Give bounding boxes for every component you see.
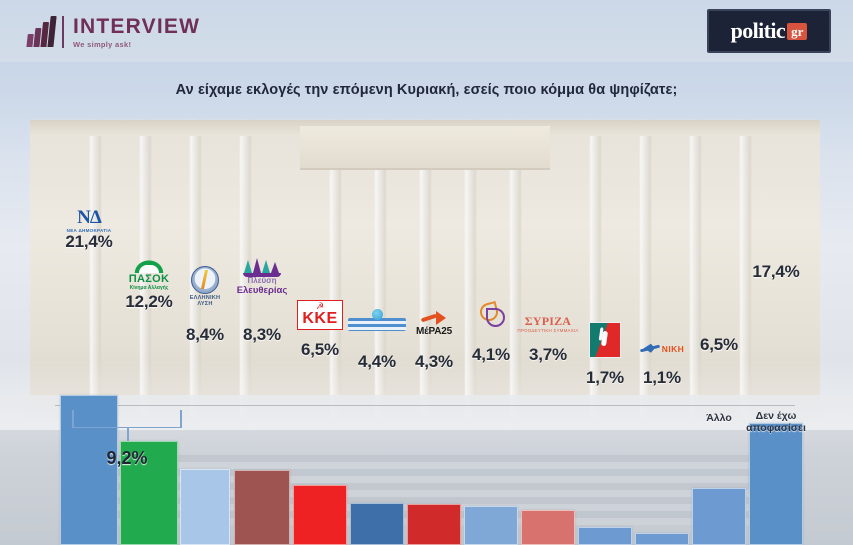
bar-kokkino bbox=[578, 527, 632, 545]
plefsi-logo-line2: Ελευθερίας bbox=[237, 286, 288, 296]
bar-elliniki-lysi bbox=[180, 469, 230, 545]
bar-nd bbox=[60, 395, 118, 545]
kke-logo-mark: ΚΚΕ bbox=[302, 311, 337, 327]
bar-kke bbox=[293, 485, 347, 545]
bar-group-den-exo-apofasisei bbox=[749, 140, 803, 545]
foni-logikis-flower-icon bbox=[477, 300, 505, 328]
niki-star-icon bbox=[640, 342, 662, 356]
bar-foni-logikis bbox=[464, 506, 518, 545]
elliniki-lysi-lightning-icon bbox=[191, 266, 219, 294]
bar-plefsi bbox=[234, 470, 290, 545]
bar-syriza bbox=[521, 510, 575, 545]
bar-group-mera25 bbox=[407, 140, 461, 545]
bar-group-nd bbox=[60, 140, 118, 545]
bar-allo bbox=[692, 488, 746, 545]
bar-den-exo-apofasisei bbox=[749, 423, 803, 545]
mera25-logo-mark: ΜέΡΑ25 bbox=[416, 326, 452, 337]
poll-infographic: INTERVIEW We simply ask! politic gr Αν ε… bbox=[0, 0, 853, 545]
bar-chart: ΝΔ ΝΕΑ ΔΗΜΟΚΡΑΤΙΑ 21,4% ΠΑΣΟΚ Κίνημα Αλλ… bbox=[0, 0, 853, 545]
bar-niki bbox=[635, 533, 689, 545]
bar-nea-aristera bbox=[350, 503, 404, 545]
elliniki-lysi-logo-sub: ΕΛΛΗΝΙΚΗ ΛΥΣΗ bbox=[190, 295, 221, 308]
category-label-den-exo-apofasisei: Δεν έχω αποφασίσει bbox=[726, 410, 826, 434]
nd-logo-mark: ΝΔ bbox=[67, 208, 112, 227]
mera25-arrow-icon bbox=[421, 310, 447, 326]
kokkino-icon bbox=[589, 322, 621, 358]
pasok-sun-icon bbox=[132, 258, 166, 273]
bar-group-nea-aristera bbox=[350, 140, 404, 545]
bar-mera25 bbox=[407, 504, 461, 545]
plefsi-ship-icon bbox=[242, 260, 282, 277]
bar-group-foni-logikis bbox=[464, 140, 518, 545]
gap-value-label: 9,2% bbox=[57, 448, 197, 469]
value-label-den-exo-apofasisei: 17,4% bbox=[733, 262, 819, 282]
